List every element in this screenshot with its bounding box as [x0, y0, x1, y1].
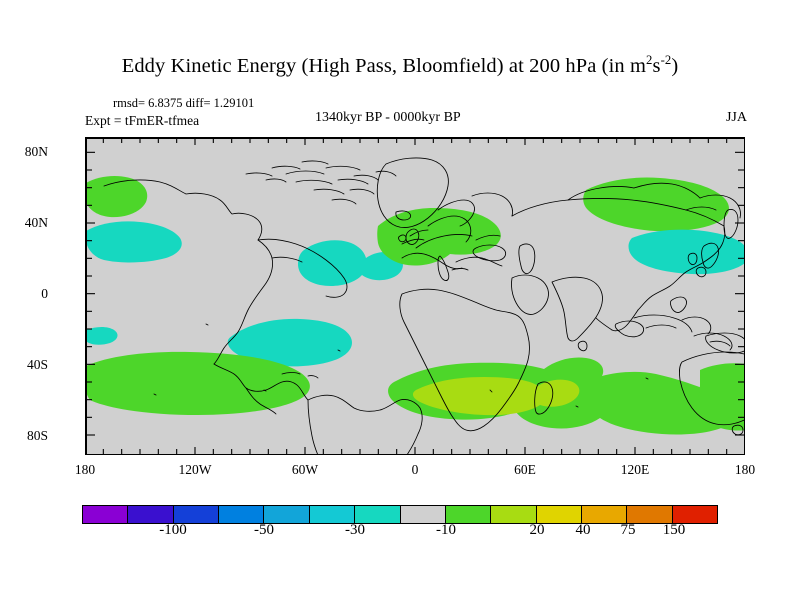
colorbar-cell-7: [401, 506, 446, 523]
title-superscript-2: -2: [661, 53, 672, 67]
time-period-label: 1340kyr BP - 0000kyr BP: [315, 110, 461, 126]
colorbar-cell-1: [128, 506, 173, 523]
colorbar-label-m10: -10: [436, 522, 456, 539]
colorbar-cell-10: [537, 506, 582, 523]
title-main: Eddy Kinetic Energy (High Pass, Bloomfie…: [122, 55, 646, 77]
colorbar-label-m100: -100: [159, 522, 187, 539]
xtick-label-60e: 60E: [514, 462, 536, 478]
xtick-label-0: 0: [412, 462, 419, 478]
colorbar-cell-12: [627, 506, 672, 523]
title-mid: s: [652, 55, 660, 77]
xtick-label-180w: 180: [75, 462, 95, 478]
colorbar-cell-5: [310, 506, 355, 523]
colorbar-cell-3: [219, 506, 264, 523]
colorbar-label-75: 75: [621, 522, 636, 539]
colorbar-label-150: 150: [663, 522, 686, 539]
page-title: Eddy Kinetic Energy (High Pass, Bloomfie…: [0, 55, 800, 78]
colorbar-cell-11: [582, 506, 627, 523]
colorbar-cell-13: [673, 506, 717, 523]
ytick-label-0: 0: [0, 286, 48, 302]
colorbar-label-20: 20: [530, 522, 545, 539]
colorbar-label-40: 40: [576, 522, 591, 539]
ytick-label-80s: 80S: [0, 428, 48, 444]
colorbar-label-m30: -30: [345, 522, 365, 539]
colorbar-cell-6: [355, 506, 400, 523]
season-label: JJA: [726, 110, 747, 126]
map-svg: [86, 138, 745, 455]
colorbar-label-m50: -50: [254, 522, 274, 539]
xtick-label-180e: 180: [735, 462, 755, 478]
colorbar-cell-8: [446, 506, 491, 523]
map-plot-area: [85, 137, 745, 455]
rmsd-statistics-label: rmsd= 6.8375 diff= 1.29101: [113, 96, 254, 111]
xtick-label-60w: 60W: [292, 462, 318, 478]
colorbar-cell-0: [83, 506, 128, 523]
xtick-label-120e: 120E: [621, 462, 650, 478]
colorbar-cell-2: [174, 506, 219, 523]
title-end: ): [671, 55, 678, 77]
ytick-label-40n: 40N: [0, 215, 48, 231]
experiment-label: Expt = tFmER-tfmea: [85, 113, 199, 129]
colorbar-cell-4: [264, 506, 309, 523]
climate-figure: Eddy Kinetic Energy (High Pass, Bloomfie…: [0, 0, 800, 600]
ytick-label-80n: 80N: [0, 144, 48, 160]
ytick-label-40s: 40S: [0, 357, 48, 373]
xtick-label-120w: 120W: [179, 462, 212, 478]
colorbar-cell-9: [491, 506, 536, 523]
